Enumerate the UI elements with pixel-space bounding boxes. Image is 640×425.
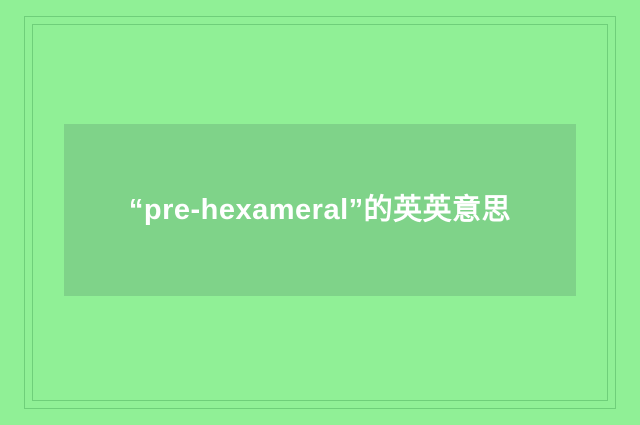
title-plate: “pre-hexameral”的英英意思 [64,124,576,296]
page-title: “pre-hexameral”的英英意思 [105,182,535,239]
image-canvas: “pre-hexameral”的英英意思 [0,0,640,425]
